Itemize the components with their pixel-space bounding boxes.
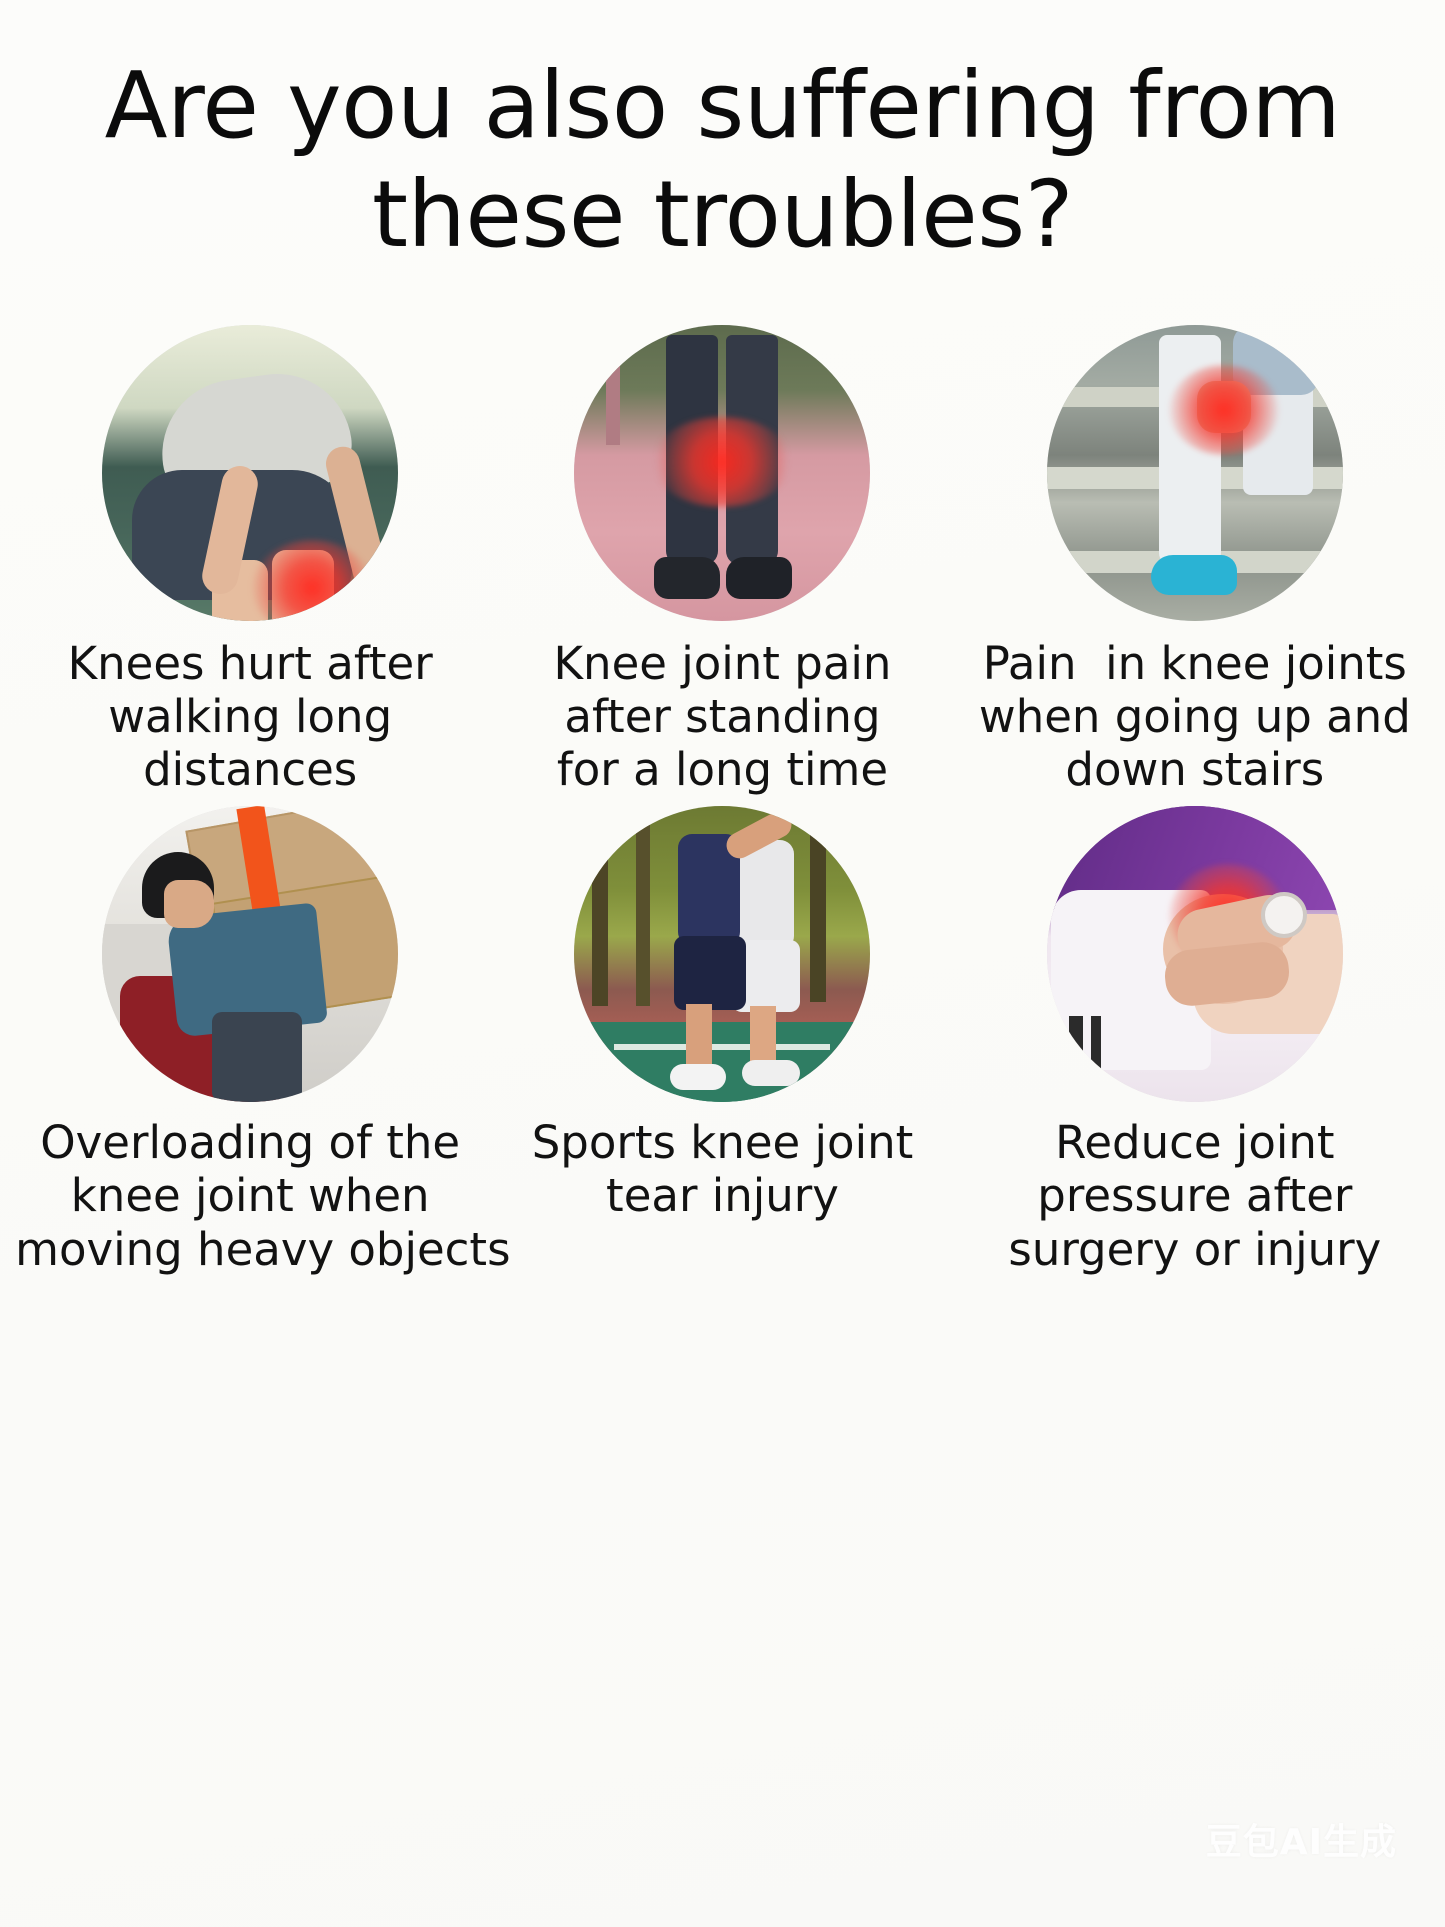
caption-line: Pain in knee joints [979,637,1411,690]
card-caption: Reduce joint pressure after surgery or i… [1008,1116,1381,1275]
ai-watermark: 豆包AI生成 [1206,1813,1397,1865]
card-image-person-standing-dark-trousers-on-pink-court [574,325,870,621]
symptom-card-standing-long-time: Knee joint pain after standing for a lon… [486,325,958,796]
caption-line: after standing [554,690,892,743]
caption-line: knee joint when [15,1169,485,1222]
caption-line: surgery or injury [1008,1223,1381,1276]
caption-line: Knees hurt after [68,637,433,690]
caption-line: distances [68,743,433,796]
symptom-card-moving-heavy-objects: Overloading of the knee joint when movin… [14,796,486,1275]
symptom-card-sports-tear-injury: Sports knee joint tear injury [486,796,958,1275]
card-caption: Sports knee joint tear injury [532,1116,914,1222]
page-title-line-1: Are you also suffering from [60,52,1385,161]
poster-root: Are you also suffering from these troubl… [0,0,1445,1927]
card-caption: Pain in knee joints when going up and do… [979,637,1411,796]
caption-line: when going up and [979,690,1411,743]
card-image-man-carrying-cardboard-boxes-on-back [102,806,398,1102]
card-image-man-bending-holding-knee-outdoors [102,325,398,621]
card-image-hands-treating-inflamed-knee [1047,806,1343,1102]
caption-line: Overloading of the [15,1116,485,1169]
wristwatch-icon [1261,892,1307,938]
pain-indicator-icon [652,417,792,507]
page-title: Are you also suffering from these troubl… [0,0,1445,269]
symptom-card-going-up-down-stairs: Pain in knee joints when going up and do… [959,325,1431,796]
caption-line: pressure after [1008,1169,1381,1222]
card-caption: Knee joint pain after standing for a lon… [554,637,892,796]
caption-line: for a long time [554,743,892,796]
card-caption: Knees hurt after walking long distances [68,637,433,796]
page-title-line-2: these troubles? [60,161,1385,270]
caption-line: moving heavy objects [15,1223,485,1276]
caption-line: Knee joint pain [554,637,892,690]
symptom-card-grid: Knees hurt after walking long distances … [0,325,1445,1276]
caption-line: Sports knee joint [532,1116,914,1169]
symptom-card-post-surgery-recovery: Reduce joint pressure after surgery or i… [959,796,1431,1275]
card-image-person-on-stone-stairs-holding-knee [1047,325,1343,621]
card-image-two-basketball-players-on-outdoor-court [574,806,870,1102]
card-caption: Overloading of the knee joint when movin… [15,1116,485,1275]
pain-indicator-icon [1169,365,1279,455]
caption-line: down stairs [979,743,1411,796]
caption-line: Reduce joint [1008,1116,1381,1169]
caption-line: tear injury [532,1169,914,1222]
symptom-card-walking-long-distances: Knees hurt after walking long distances [14,325,486,796]
caption-line: walking long [68,690,433,743]
